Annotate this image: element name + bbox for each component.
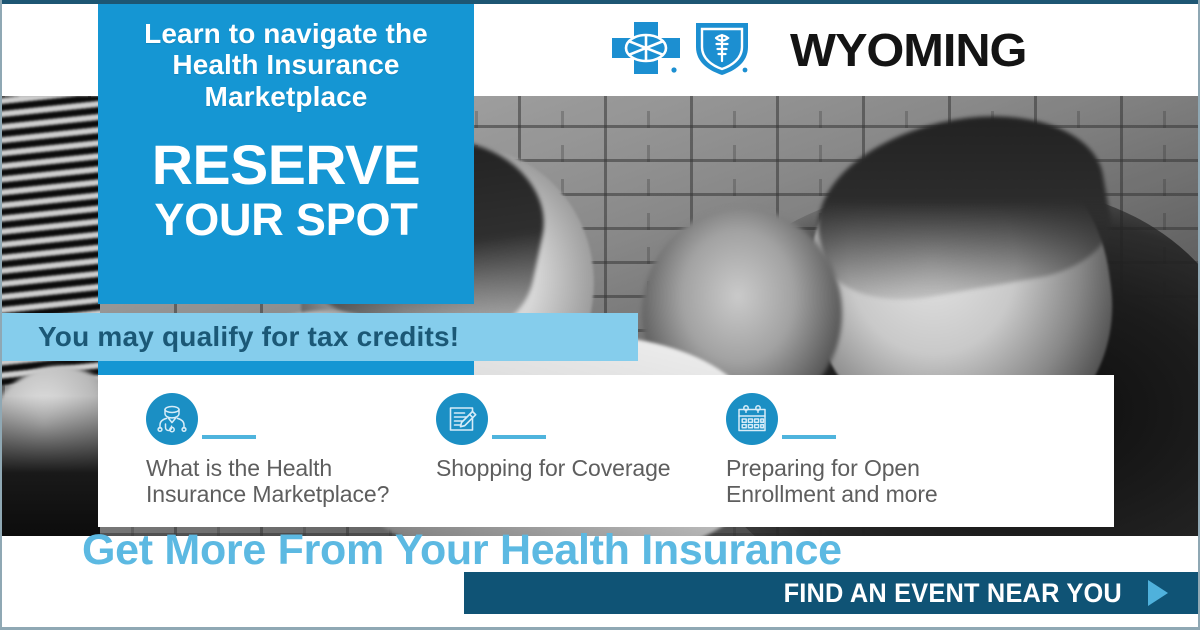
calendar-icon (726, 393, 778, 445)
blue-shield-icon (692, 19, 752, 82)
play-arrow-icon (1148, 580, 1168, 606)
feature-underline (782, 435, 836, 439)
photo-bottom-shadow (2, 396, 100, 536)
footer-headline-text: Get More From Your Health Insurance (82, 526, 842, 574)
hero-panel: Learn to navigate the Health Insurance M… (98, 4, 474, 304)
header-strip: WYOMING (474, 4, 1200, 96)
footer-headline: Get More From Your Health Insurance (82, 526, 1182, 572)
feature-item-enrollment[interactable]: Preparing for Open Enrollment and more (726, 393, 1016, 527)
feature-icon-row (726, 393, 1004, 445)
feature-label: What is the Health Insurance Marketplace… (146, 456, 424, 508)
feature-label: Shopping for Coverage (436, 456, 714, 482)
feature-underline (202, 435, 256, 439)
brand-logo[interactable]: WYOMING (610, 19, 1013, 82)
blue-cross-icon (610, 20, 682, 81)
feature-underline (492, 435, 546, 439)
feature-icon-row (146, 393, 424, 445)
feature-icon-row (436, 393, 714, 445)
hero-headline-line2: YOUR SPOT (114, 197, 458, 242)
tax-band-underline (98, 361, 474, 375)
feature-item-shopping[interactable]: Shopping for Coverage (436, 393, 726, 527)
cta-label: FIND AN EVENT NEAR YOU (784, 578, 1122, 609)
hero-headline-line1: RESERVE (111, 138, 462, 193)
top-rule (2, 0, 1200, 4)
feature-label: Preparing for Open Enrollment and more (726, 456, 1004, 508)
logo-marks (610, 19, 752, 82)
feature-item-marketplace[interactable]: What is the Health Insurance Marketplace… (146, 393, 436, 527)
feature-card: What is the Health Insurance Marketplace… (98, 375, 1114, 527)
find-event-cta-button[interactable]: FIND AN EVENT NEAR YOU (464, 572, 1200, 614)
hero-kicker: Learn to navigate the Health Insurance M… (114, 18, 458, 112)
marketplace-event-banner: WYOMING Learn to navigate the Health Ins… (0, 0, 1200, 630)
document-pencil-icon (436, 393, 488, 445)
tax-credit-band: You may qualify for tax credits! (2, 313, 638, 361)
doctor-icon (146, 393, 198, 445)
tax-credit-text: You may qualify for tax credits! (38, 321, 459, 353)
brand-wordmark: WYOMING (790, 23, 1026, 77)
